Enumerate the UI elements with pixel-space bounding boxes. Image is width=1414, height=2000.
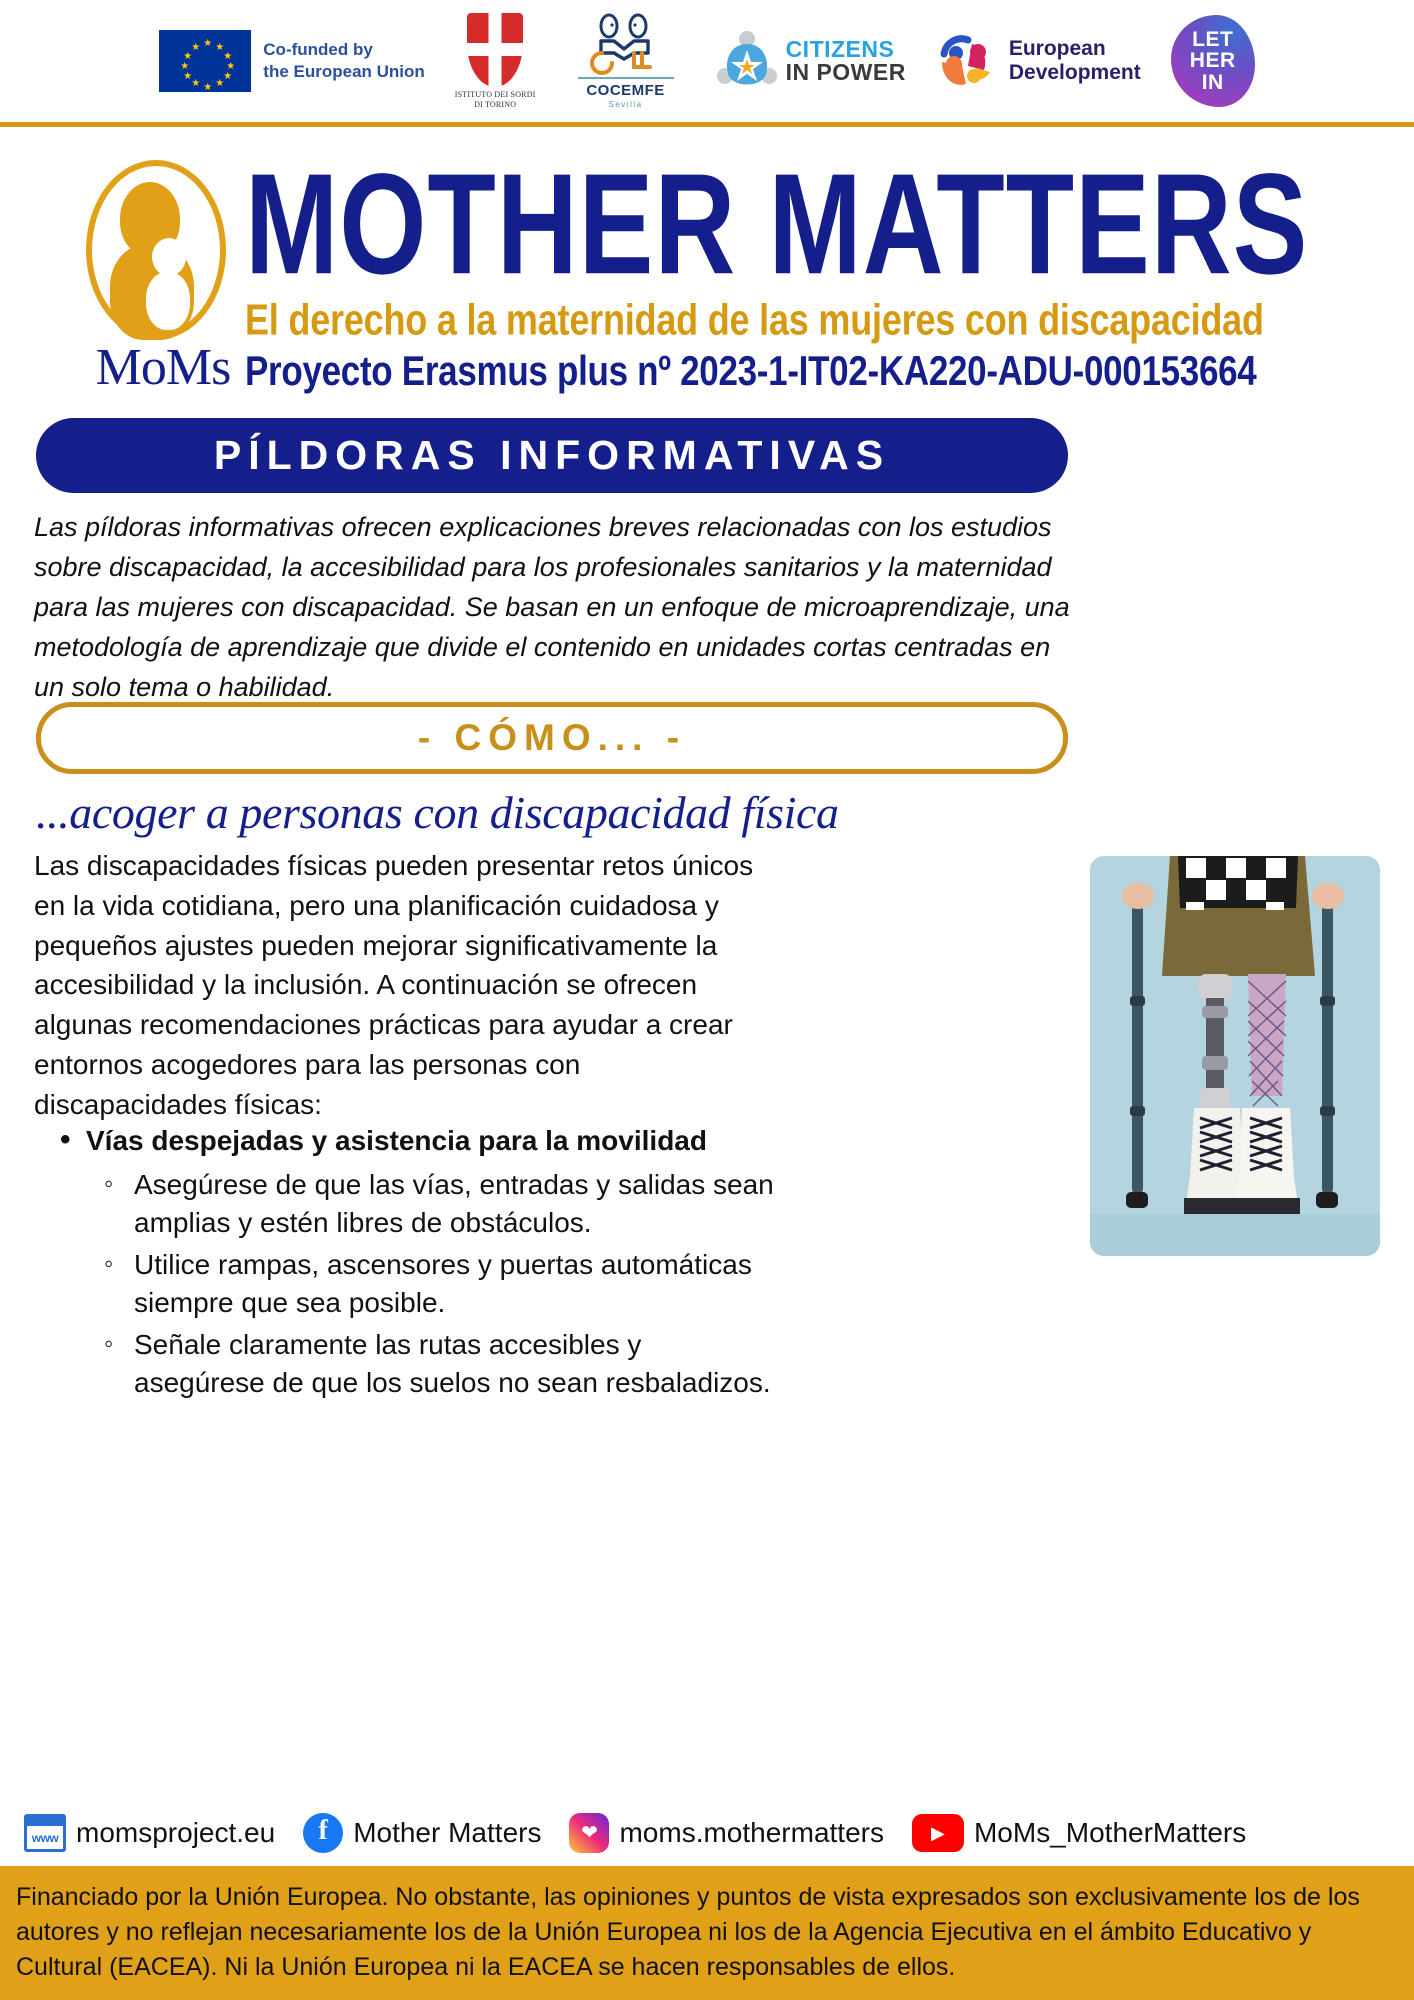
- social-links-bar: www momsproject.eu f Mother Matters ❤ mo…: [0, 1800, 1414, 1866]
- two-people-wheelchair-icon: [576, 13, 676, 75]
- facebook-icon: f: [303, 1813, 343, 1853]
- person-with-crutches-and-prosthetic-leg-photo: [1090, 856, 1380, 1256]
- eu-funding-disclaimer: Financiado por la Unión Europea. No obst…: [0, 1866, 1414, 2000]
- bullet-group-title: Vías despejadas y asistencia para la mov…: [56, 1122, 776, 1160]
- citizens-star-figures-icon: [716, 30, 778, 92]
- page-subtitle: El derecho a la maternidad de las mujere…: [245, 298, 1395, 342]
- page-title: MOTHER MATTERS: [245, 158, 1365, 290]
- social-link-website[interactable]: www momsproject.eu: [24, 1814, 275, 1852]
- como-label: - CÓMO... -: [418, 717, 686, 759]
- disclaimer-text: Financiado por la Unión Europea. No obst…: [16, 1880, 1398, 1985]
- youtube-label: MoMs_MotherMatters: [974, 1817, 1246, 1849]
- three-figures-circle-icon: [936, 32, 1000, 90]
- cocemfe-divider: [578, 77, 674, 79]
- ed-line1: European: [1009, 37, 1141, 61]
- citizens-in-power-logo: CITIZENS IN POWER: [716, 30, 906, 92]
- savoy-cross-shield-icon: [467, 13, 523, 87]
- cocemfe-sublabel: Sevilla: [609, 100, 643, 109]
- let-her-in-logo: LET HER IN: [1171, 15, 1255, 107]
- social-link-youtube[interactable]: ▶ MoMs_MotherMatters: [912, 1814, 1246, 1852]
- eu-logo-line2: the European Union: [263, 61, 425, 83]
- social-link-instagram[interactable]: ❤ moms.mothermatters: [569, 1813, 884, 1853]
- moms-logo-baby-head: [152, 238, 186, 276]
- website-label: momsproject.eu: [76, 1817, 275, 1849]
- ed-line2: Development: [1009, 61, 1141, 85]
- facebook-label: Mother Matters: [353, 1817, 541, 1849]
- instagram-icon: ❤: [569, 1813, 609, 1853]
- section-body: Las discapacidades físicas pueden presen…: [34, 846, 759, 1124]
- bullet-sub-item: Utilice rampas, ascensores y puertas aut…: [100, 1246, 776, 1322]
- bullet-sub-item: Asegúrese de que las vías, entradas y sa…: [100, 1166, 776, 1242]
- section-heading: ...acoger a personas con discapacidad fí…: [36, 786, 1136, 839]
- cip-line1: CITIZENS: [786, 38, 906, 61]
- title-block: MoMs MOTHER MATTERS El derecho a la mate…: [0, 150, 1414, 400]
- poster-page: ★ ★ ★ ★ ★ ★ ★ ★ ★ ★ ★ ★ Co-funded by the…: [0, 0, 1414, 2000]
- banner-label: PÍLDORAS INFORMATIVAS: [214, 432, 890, 479]
- cocemfe-label: COCEMFE: [586, 82, 665, 99]
- european-development-logo: European Development: [936, 32, 1141, 90]
- social-link-facebook[interactable]: f Mother Matters: [303, 1813, 541, 1853]
- bullet-sub-item: Señale claramente las rutas accesibles y…: [100, 1326, 776, 1402]
- moms-logo: MoMs: [60, 160, 260, 400]
- lhi-line1: LET: [1192, 29, 1233, 50]
- istituto-dei-sordi-logo: ISTITUTO DEI SORDI DI TORINO: [455, 13, 536, 108]
- lhi-line2: HER: [1190, 50, 1236, 71]
- sordi-caption-line2: DI TORINO: [455, 100, 536, 109]
- eu-flag-icon: ★ ★ ★ ★ ★ ★ ★ ★ ★ ★ ★ ★: [159, 30, 251, 92]
- eu-cofunded-logo: ★ ★ ★ ★ ★ ★ ★ ★ ★ ★ ★ ★ Co-funded by the…: [159, 30, 425, 92]
- recommendations-list: Vías despejadas y asistencia para la mov…: [56, 1122, 776, 1406]
- youtube-icon: ▶: [912, 1814, 964, 1852]
- intro-paragraph: Las píldoras informativas ofrecen explic…: [34, 508, 1074, 708]
- header-divider: [0, 122, 1414, 127]
- moms-logo-wordmark: MoMs: [70, 338, 256, 397]
- instagram-label: moms.mothermatters: [619, 1817, 884, 1849]
- lhi-line3: IN: [1202, 72, 1224, 93]
- moms-logo-baby-body: [146, 272, 190, 330]
- cip-line2: IN POWER: [786, 61, 906, 84]
- partner-logo-bar: ★ ★ ★ ★ ★ ★ ★ ★ ★ ★ ★ ★ Co-funded by the…: [0, 0, 1414, 122]
- cocemfe-logo: COCEMFE Sevilla: [566, 13, 686, 109]
- sordi-caption-line1: ISTITUTO DEI SORDI: [455, 90, 536, 99]
- eu-logo-line1: Co-funded by: [263, 39, 425, 61]
- project-reference: Proyecto Erasmus plus nº 2023-1-IT02-KA2…: [245, 350, 1395, 392]
- website-icon: www: [24, 1814, 66, 1852]
- como-box: - CÓMO... -: [36, 702, 1068, 774]
- pildoras-informativas-banner: PÍLDORAS INFORMATIVAS: [36, 418, 1068, 493]
